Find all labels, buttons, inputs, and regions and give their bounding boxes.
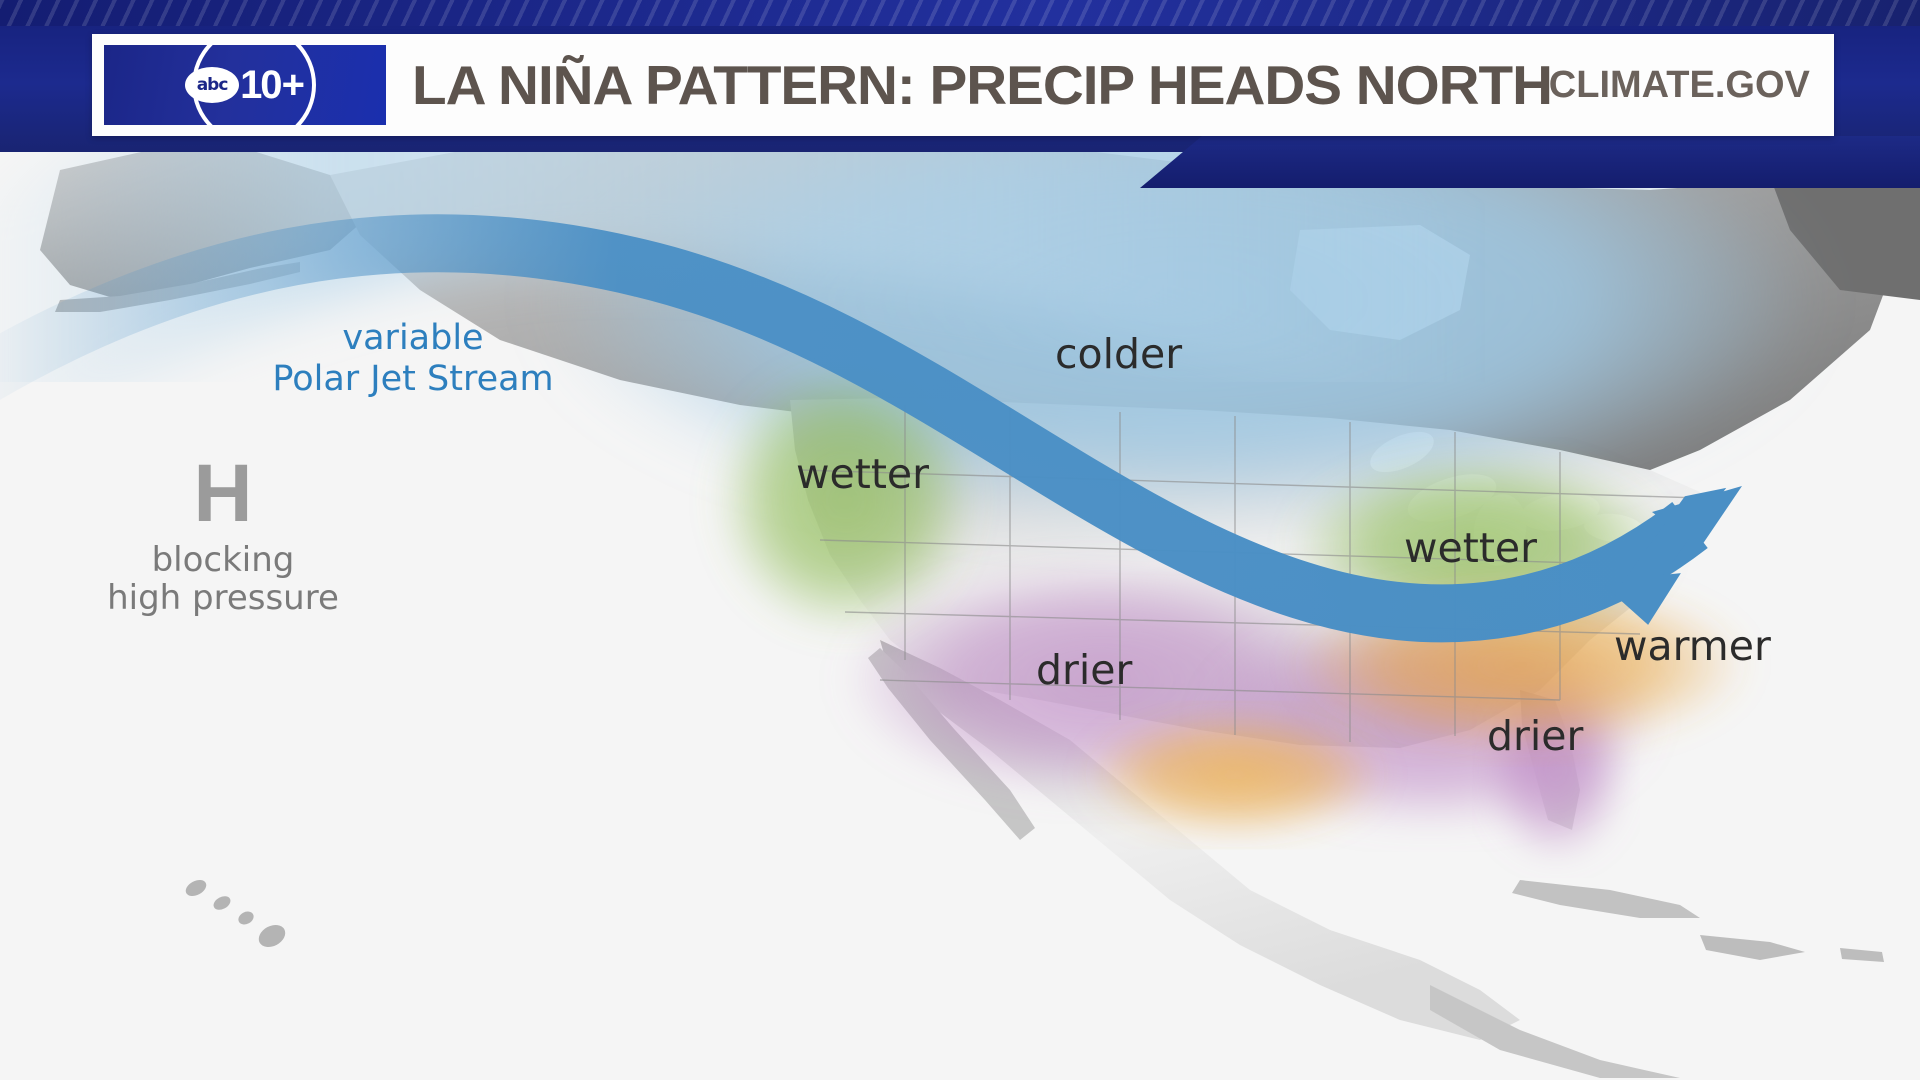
high-pressure-line1: blocking — [78, 541, 368, 579]
jet-stream-label-line1: variable — [268, 318, 558, 359]
label-wetter-ohiovalley: wetter — [1404, 524, 1537, 572]
headline: LA NIÑA PATTERN: PRECIP HEADS NORTH — [412, 53, 1552, 117]
logo-channel-number: 10 — [240, 65, 281, 105]
abc10-plus-logo[interactable]: abc 10 + — [104, 45, 386, 125]
label-wetter-northwest: wetter — [796, 450, 929, 498]
logo-wordmark: abc 10 + — [185, 65, 305, 105]
logo-plus-icon: + — [282, 65, 305, 105]
blocking-high-pressure-marker: H blocking high pressure — [78, 455, 368, 618]
jet-stream-label-line2: Polar Jet Stream — [268, 359, 558, 400]
logo-mark: abc 10 + — [170, 45, 320, 125]
high-pressure-line2: high pressure — [78, 579, 368, 617]
high-pressure-symbol: H — [78, 455, 368, 533]
source-attribution: CLIMATE.GOV — [1549, 64, 1810, 107]
high-pressure-description: blocking high pressure — [78, 541, 368, 618]
title-text-wrap: LA NIÑA PATTERN: PRECIP HEADS NORTH CLIM… — [386, 34, 1834, 136]
label-colder: colder — [1055, 330, 1182, 378]
label-drier-southwest: drier — [1036, 646, 1132, 694]
label-warmer-southeast: warmer — [1614, 622, 1771, 670]
title-card: abc 10 + LA NIÑA PATTERN: PRECIP HEADS N… — [92, 34, 1834, 136]
label-drier-gulf: drier — [1487, 712, 1583, 760]
jet-stream-label: variable Polar Jet Stream — [268, 318, 558, 399]
banner-diagonal-stripes — [0, 0, 1920, 26]
banner-lower-strip — [1140, 136, 1920, 188]
weather-graphic: variable Polar Jet Stream H blocking hig… — [0, 0, 1920, 1080]
abc-oval-icon: abc — [185, 67, 239, 103]
